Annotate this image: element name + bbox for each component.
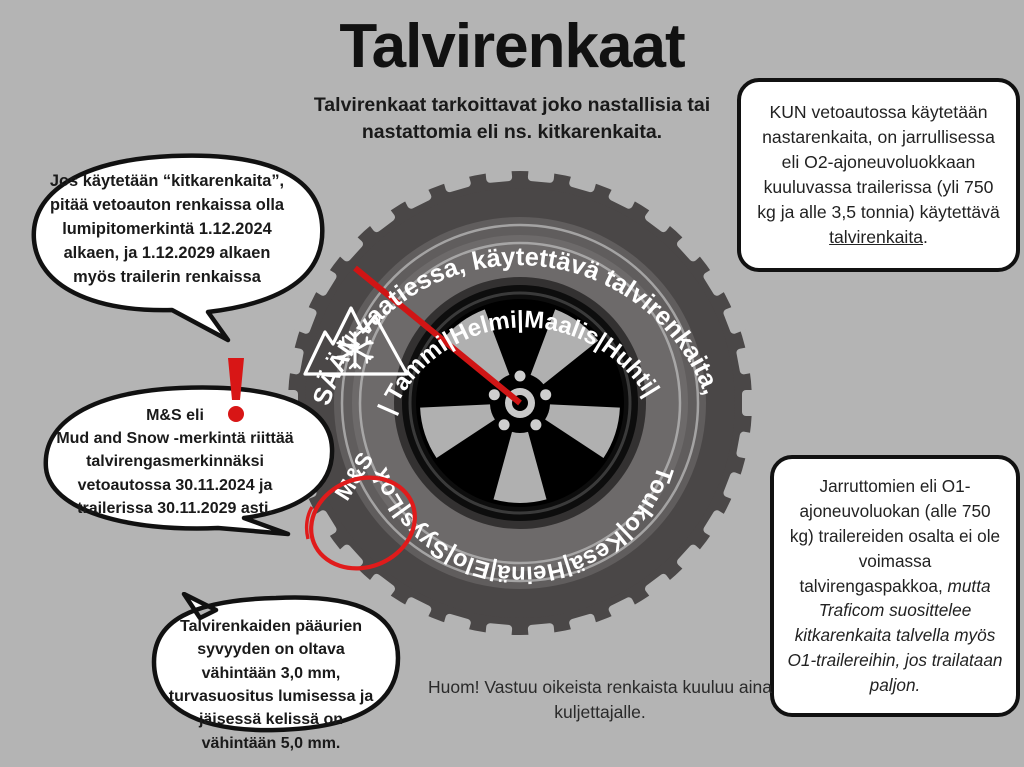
o2-luokka-box: KUN vetoautossa käytetään nastarenkaita,… bbox=[737, 78, 1020, 272]
tire-sidewall-outer bbox=[334, 217, 706, 589]
pointer-line bbox=[355, 268, 520, 403]
page-subtitle: Talvirenkaat tarkoittavat joko nastallis… bbox=[292, 92, 732, 146]
bubble-mid-left-text: M&S eliMud and Snow -merkintä riittää ta… bbox=[50, 404, 300, 520]
o2-text-underlined: talvirenkaita bbox=[829, 227, 923, 247]
o1-luokka-box: Jarruttomien eli O1-ajoneuvoluokan (alle… bbox=[770, 455, 1020, 717]
o2-text-after: . bbox=[923, 227, 928, 247]
wheel-face bbox=[416, 299, 624, 507]
footer-note: Huom! Vastuu oikeista renkaista kuuluu a… bbox=[420, 675, 780, 726]
tire-casing bbox=[305, 188, 735, 618]
tire-inner-black bbox=[402, 285, 638, 521]
o2-text-before: KUN vetoautossa käytetään nastarenkaita,… bbox=[757, 102, 1000, 222]
bubble-bottom-left-text: Talvirenkaiden pääurien syvyyden on olta… bbox=[160, 615, 382, 755]
wheel-hub bbox=[505, 388, 535, 418]
infographic-canvas: SÄÄN vaatiessa, käytettävä talvirenkaita… bbox=[0, 0, 1024, 767]
tire-bead bbox=[394, 277, 646, 529]
tire-sidewall-inner bbox=[352, 235, 688, 571]
bubble-mid-left-line-1: Mud and Snow -merkintä riittää talvireng… bbox=[50, 427, 300, 520]
months-ring-top: | Tammi|Helmi|Maalis|Huhti| bbox=[373, 306, 664, 418]
page-title: Talvirenkaat bbox=[0, 16, 1024, 78]
lug-bolts bbox=[489, 371, 551, 431]
rim-edge-ring bbox=[410, 293, 630, 513]
bubble-top-left-text: Jos käytetään “kitkarenkaita”, pitää vet… bbox=[42, 170, 292, 290]
sidewall-groove-1 bbox=[342, 225, 698, 581]
bubble-mid-left-line-0: M&S eli bbox=[50, 404, 300, 427]
sidewall-groove-2 bbox=[360, 243, 680, 563]
